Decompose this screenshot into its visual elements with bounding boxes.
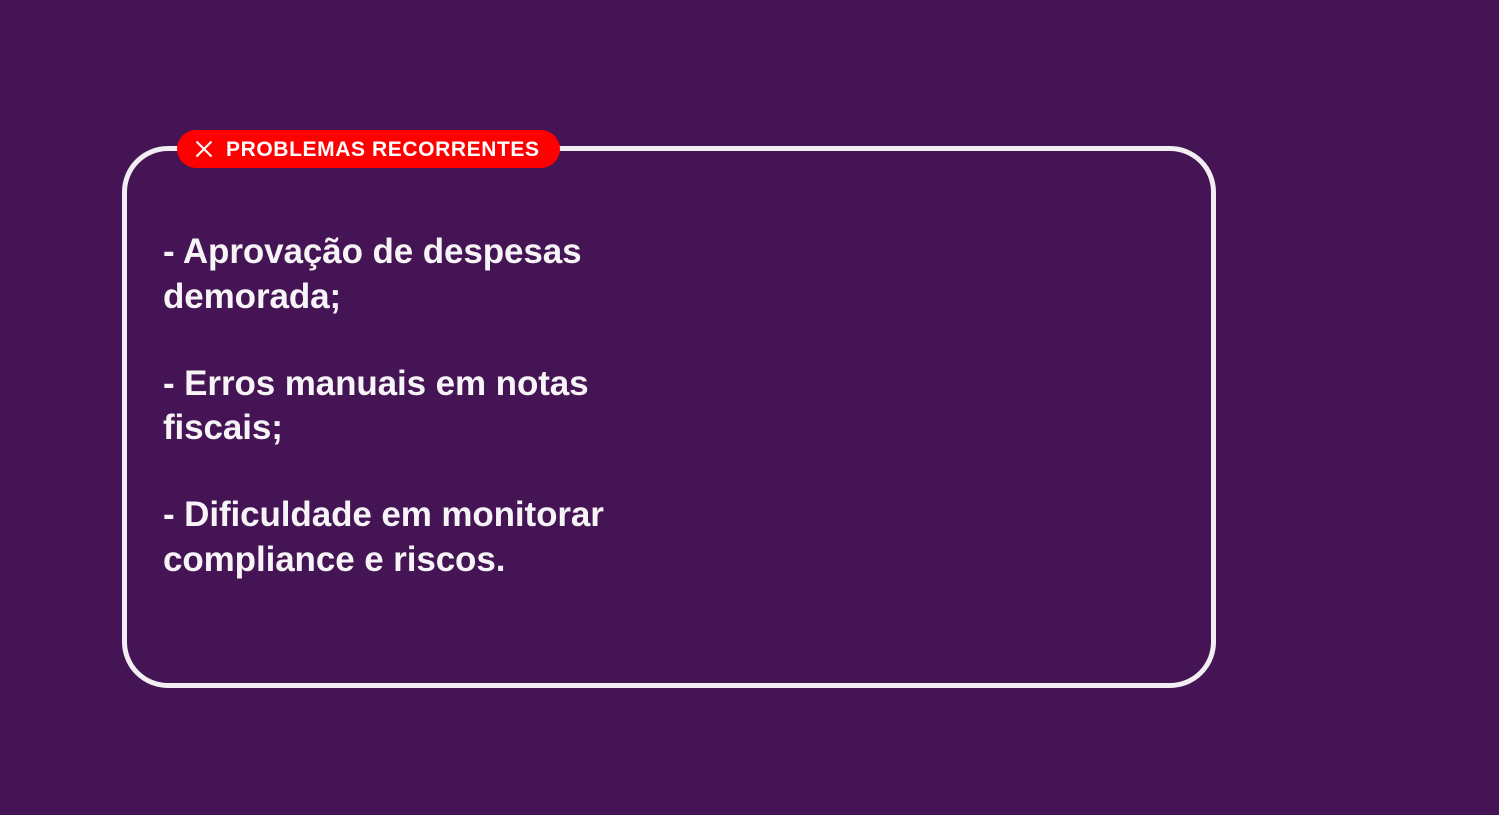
problems-badge: PROBLEMAS RECORRENTES — [177, 130, 560, 168]
x-cross-icon — [193, 138, 215, 160]
slide-canvas: PROBLEMAS RECORRENTES - Aprovação de des… — [0, 0, 1499, 815]
list-item: - Dificuldade em monitorar compliance e … — [163, 493, 1063, 583]
problems-list: - Aprovação de despesas demorada; - Erro… — [163, 230, 1063, 583]
list-item: - Aprovação de despesas demorada; — [163, 230, 1063, 320]
list-item: - Erros manuais em notas fiscais; — [163, 362, 1063, 452]
problems-badge-label: PROBLEMAS RECORRENTES — [226, 139, 540, 160]
